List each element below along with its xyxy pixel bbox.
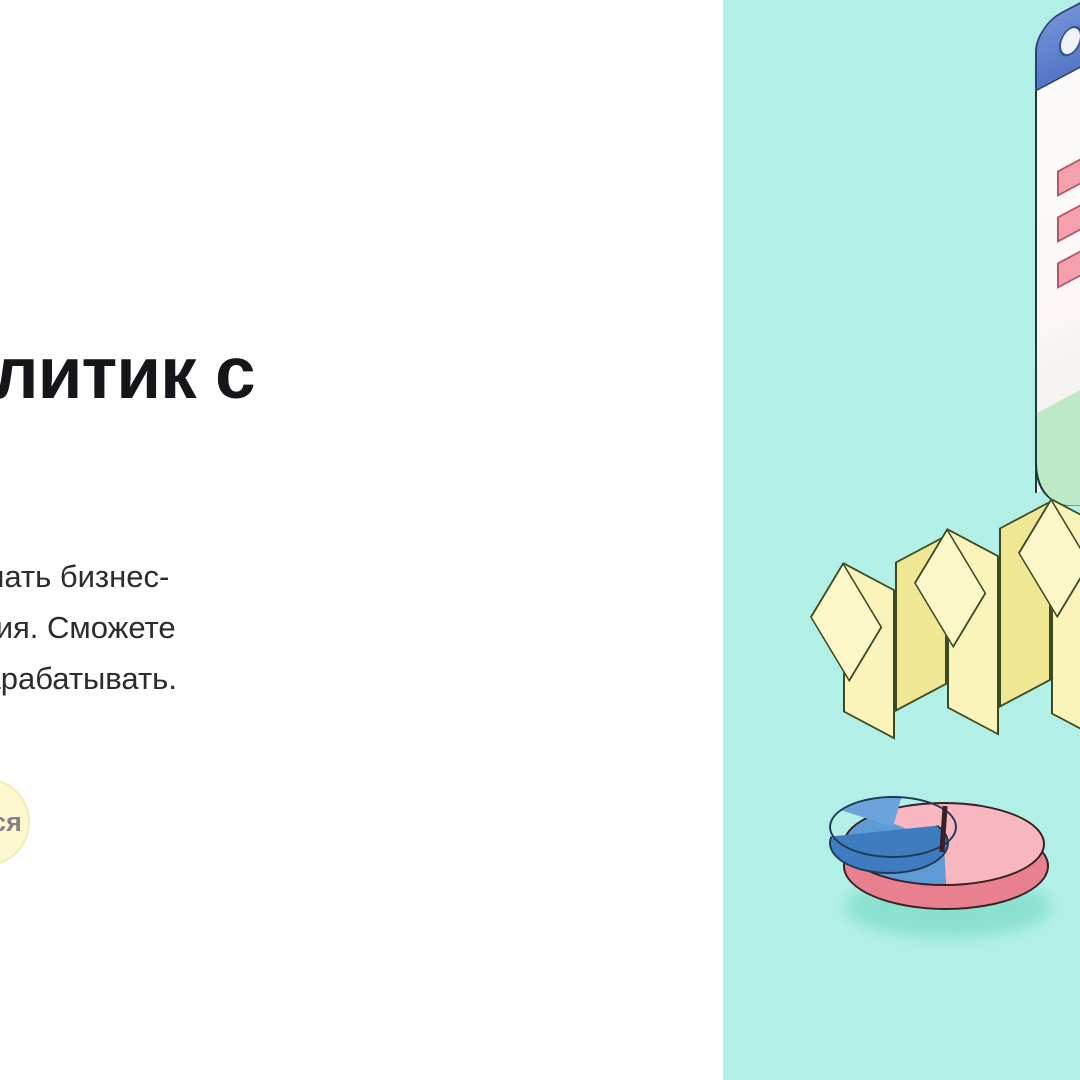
window-dot-icon	[1059, 21, 1080, 61]
hero-slide: аналитик с ть и улучшать бизнес- о внедр…	[0, 0, 1080, 1080]
cta-button[interactable]: Записаться	[0, 778, 30, 866]
hero-description: ть и улучшать бизнес- о внедрения. Сможе…	[0, 551, 723, 704]
dashboard-card-illustration	[1035, 42, 1080, 512]
description-line-2: о внедрения. Сможете	[0, 602, 723, 653]
pie-slice-surface	[829, 796, 957, 858]
bar-chart-illustration	[843, 520, 1080, 810]
description-line-1: ть и улучшать бизнес-	[0, 551, 723, 602]
left-content-panel: аналитик с ть и улучшать бизнес- о внедр…	[0, 0, 723, 1080]
page-title: аналитик с	[0, 335, 723, 412]
description-line-3: больше зарабатывать.	[0, 653, 723, 704]
pie-chart-illustration	[823, 780, 1063, 955]
illustration-panel	[723, 0, 1080, 1080]
